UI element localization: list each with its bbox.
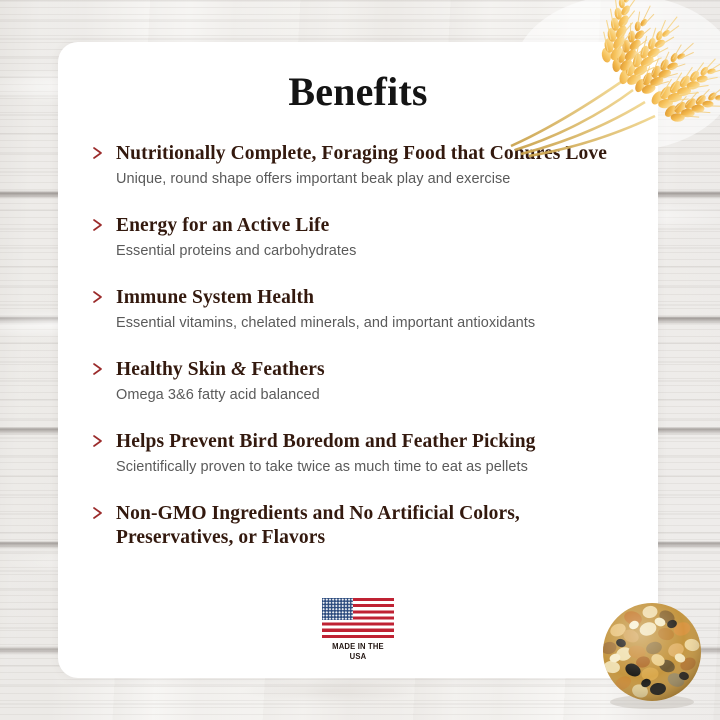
list-item: Non-GMO Ingredients and No Artificial Co… (88, 502, 633, 550)
made-in-usa-caption: MADE IN THE USA (324, 641, 392, 661)
benefit-heading: Energy for an Active Life (116, 214, 633, 238)
chevron-right-icon (90, 288, 106, 306)
made-in-usa-badge: MADE IN THE USA (320, 598, 396, 661)
benefits-card: Benefits Nutritionally Complete, Foragin… (58, 42, 658, 678)
flag-canton (322, 598, 353, 620)
page-title: Benefits (58, 68, 658, 115)
benefit-subtext: Essential proteins and carbohydrates (116, 242, 633, 261)
benefit-heading: Helps Prevent Bird Boredom and Feather P… (116, 430, 633, 454)
product-benefits-graphic: Benefits Nutritionally Complete, Foragin… (0, 0, 720, 720)
benefit-subtext: Essential vitamins, chelated minerals, a… (116, 314, 633, 333)
benefit-heading: Nutritionally Complete, Foraging Food th… (116, 142, 633, 166)
benefit-heading: Healthy Skin & Feathers (116, 358, 633, 382)
chevron-right-icon (90, 432, 106, 450)
chevron-right-icon (90, 360, 106, 378)
chevron-right-icon (90, 144, 106, 162)
list-item: Energy for an Active Life Essential prot… (88, 214, 633, 261)
benefit-heading: Immune System Health (116, 286, 633, 310)
chevron-right-icon (90, 504, 106, 522)
list-item: Healthy Skin & Feathers Omega 3&6 fatty … (88, 358, 633, 405)
benefit-subtext: Unique, round shape offers important bea… (116, 170, 633, 189)
benefit-heading: Non-GMO Ingredients and No Artificial Co… (116, 502, 546, 550)
us-flag-icon (322, 598, 394, 638)
benefit-subtext: Omega 3&6 fatty acid balanced (116, 386, 633, 405)
benefit-subtext: Scientifically proven to take twice as m… (116, 458, 633, 477)
list-item: Immune System Health Essential vitamins,… (88, 286, 633, 333)
list-item: Nutritionally Complete, Foraging Food th… (88, 142, 633, 189)
benefits-list: Nutritionally Complete, Foraging Food th… (88, 142, 633, 554)
chevron-right-icon (90, 216, 106, 234)
list-item: Helps Prevent Bird Boredom and Feather P… (88, 430, 633, 477)
